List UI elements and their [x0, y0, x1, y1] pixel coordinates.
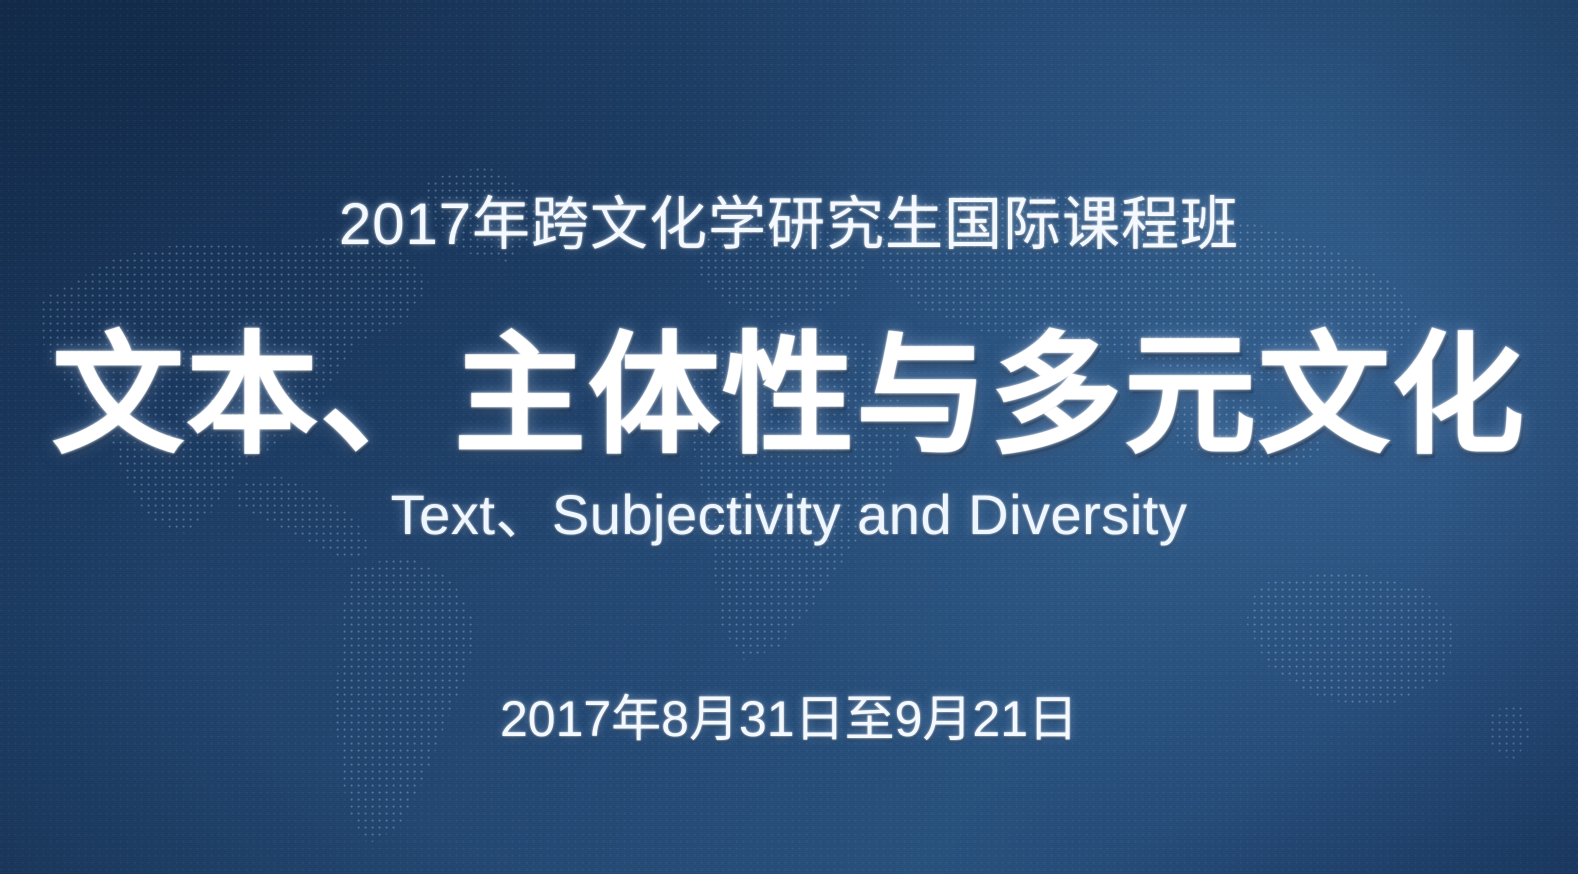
program-kicker: 2017年跨文化学研究生国际课程班: [0, 196, 1578, 254]
page-subtitle-english: Text、Subjectivity and Diversity: [0, 487, 1578, 543]
banner-content: 2017年跨文化学研究生国际课程班 文本、主体性与多元文化 Text、Subje…: [0, 0, 1578, 874]
event-banner: 2017年跨文化学研究生国际课程班 文本、主体性与多元文化 Text、Subje…: [0, 0, 1578, 874]
event-date-range: 2017年8月31日至9月21日: [0, 694, 1578, 744]
page-title: 文本、主体性与多元文化: [0, 330, 1578, 462]
